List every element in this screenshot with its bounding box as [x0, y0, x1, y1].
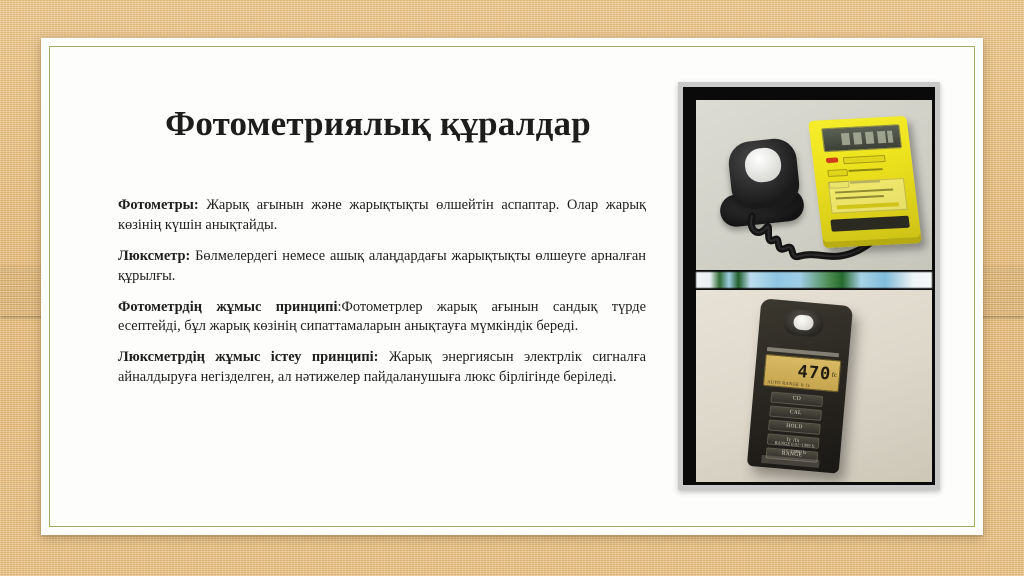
lcd-reading-unit: fc — [831, 371, 837, 379]
paragraph-luxmeter-principle: Люксметрдің жұмыс істеу принципі: Жарық … — [118, 348, 646, 388]
sky-foliage-strip — [696, 272, 932, 288]
paragraph-photometers: Фотометры: Жарық ағынын және жарықтықты … — [118, 196, 646, 236]
paragraph-photometer-principle: Фотометрдің жұмыс принципі:Фотометрлер ж… — [118, 298, 646, 338]
yellow-meter-button-row — [830, 216, 910, 232]
page-title: Фотометриялық құралдар — [118, 105, 638, 144]
black-meter-body: 470 fc AUTO RANGE fc lx CD CAL HOLD fc /… — [747, 298, 853, 473]
photo-frame-mat: 470 fc AUTO RANGE fc lx CD CAL HOLD fc /… — [683, 87, 935, 485]
paragraph-lead-luxmeter: Люксметр: — [118, 248, 190, 264]
yellow-meter-lcd — [821, 124, 902, 152]
meter-button-hold: HOLD — [768, 419, 821, 434]
body-text-block: Фотометры: Жарық ағынын және жарықтықты … — [118, 196, 646, 388]
black-meter-diffuser — [793, 314, 814, 331]
photo-frame: 470 fc AUTO RANGE fc lx CD CAL HOLD fc /… — [678, 82, 940, 490]
black-meter-lcd: 470 fc AUTO RANGE fc lx — [763, 354, 841, 393]
paragraph-lead-photometers: Фотометры: — [118, 197, 199, 213]
paragraph-body-luxmeter: Бөлмелердегі немесе ашық алаңдардағы жар… — [118, 248, 646, 284]
paragraph-lead-luxmeter-principle: Люксметрдің жұмыс істеу принципі: — [118, 349, 378, 365]
meter-button-cd: CD — [770, 392, 823, 407]
yellow-meter-body — [808, 116, 922, 248]
meter-button-cal: CAL — [769, 405, 822, 420]
yellow-meter-indicator — [826, 157, 839, 163]
paragraph-luxmeter: Люксметр: Бөлмелердегі немесе ашық алаңд… — [118, 247, 646, 287]
yellow-lux-meter-photo — [696, 100, 932, 270]
sensor-dome — [727, 137, 802, 212]
black-meter-sensor-dome — [782, 308, 824, 337]
sensor-diffuser — [743, 146, 782, 184]
paragraph-lead-photometer-principle: Фотометрдің жұмыс принципі — [118, 299, 337, 315]
black-lux-meter-photo: 470 fc AUTO RANGE fc lx CD CAL HOLD fc /… — [696, 290, 932, 482]
